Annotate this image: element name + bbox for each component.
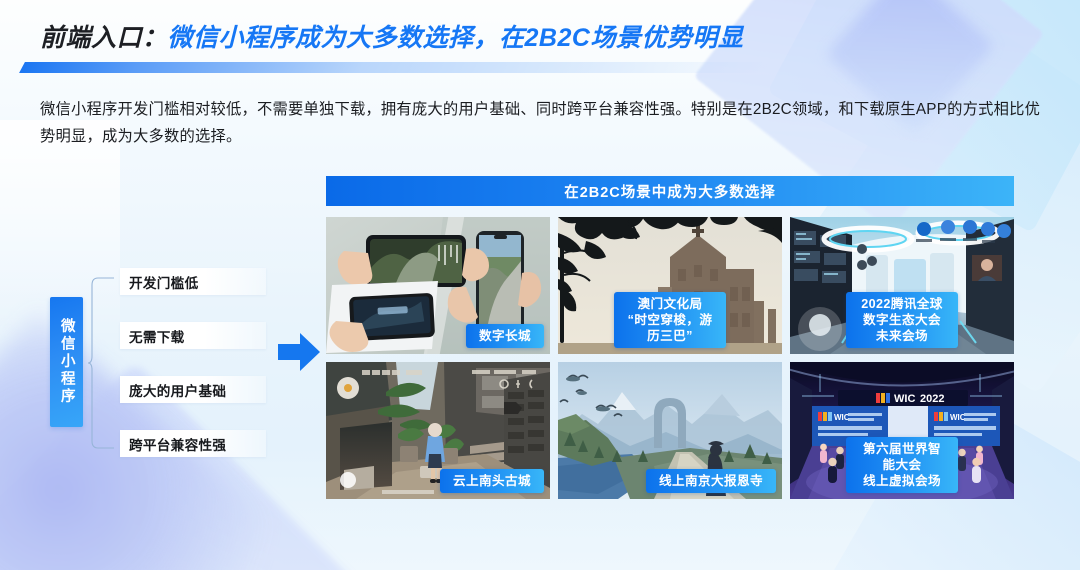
feature-item-2: 庞大的用户基础 xyxy=(120,376,266,403)
case-card-3[interactable]: 云上南头古城 xyxy=(326,362,550,499)
case-card-0-caption: 数字长城 xyxy=(466,324,544,348)
case-card-1-caption: 澳门文化局 “时空穿梭，游历三巴” xyxy=(614,292,726,348)
svg-text:WIC: WIC xyxy=(834,413,850,422)
right-arrow-icon xyxy=(278,333,320,371)
diagram-root-node: 微信小程序 xyxy=(50,297,83,427)
feature-item-1-label: 无需下载 xyxy=(129,326,185,346)
body-paragraph: 微信小程序开发门槛相对较低，不需要单独下载，拥有庞大的用户基础、同时跨平台兼容性… xyxy=(40,96,1045,150)
case-card-0[interactable]: 数字长城 xyxy=(326,217,550,354)
case-card-2[interactable]: 2022腾讯全球 数字生态大会未来会场 xyxy=(790,217,1014,354)
case-card-3-caption: 云上南头古城 xyxy=(440,469,544,493)
feature-item-1: 无需下载 xyxy=(120,322,266,349)
svg-text:WIC: WIC xyxy=(950,413,966,422)
page-title: 前端入口： 微信小程序成为大多数选择，在2B2C场景优势明显 xyxy=(0,18,1080,54)
case-card-1[interactable]: 澳门文化局 “时空穿梭，游历三巴” xyxy=(558,217,782,354)
svg-text:2022: 2022 xyxy=(920,393,944,405)
case-card-4-caption: 线上南京大报恩寺 xyxy=(646,469,776,493)
title-underline-bar xyxy=(19,62,835,73)
diagram-bracket-icon xyxy=(88,276,114,450)
slide-header: 前端入口： 微信小程序成为大多数选择，在2B2C场景优势明显 xyxy=(0,18,1080,73)
case-card-5-caption: 第六届世界智能大会 线上虚拟会场 xyxy=(846,437,958,493)
cases-grid: 数字长城 xyxy=(326,217,1014,499)
case-card-5[interactable]: WIC 2022 WIC xyxy=(790,362,1014,499)
feature-item-0-label: 开发门槛低 xyxy=(129,272,198,292)
cases-panel-heading: 在2B2C场景中成为大多数选择 xyxy=(326,176,1014,206)
diagram-root-label: 微信小程序 xyxy=(59,318,74,406)
feature-item-3-label: 跨平台兼容性强 xyxy=(129,434,226,454)
case-card-4[interactable]: 线上南京大报恩寺 xyxy=(558,362,782,499)
feature-item-0: 开发门槛低 xyxy=(120,268,266,295)
cases-panel: 在2B2C场景中成为大多数选择 xyxy=(326,176,1014,499)
feature-item-3: 跨平台兼容性强 xyxy=(120,430,266,457)
feature-item-2-label: 庞大的用户基础 xyxy=(129,380,226,400)
page-title-main: 微信小程序成为大多数选择，在2B2C场景优势明显 xyxy=(168,18,744,54)
svg-text:WIC: WIC xyxy=(894,393,915,405)
page-title-prefix: 前端入口： xyxy=(40,18,168,54)
case-card-2-caption: 2022腾讯全球 数字生态大会未来会场 xyxy=(846,292,958,348)
